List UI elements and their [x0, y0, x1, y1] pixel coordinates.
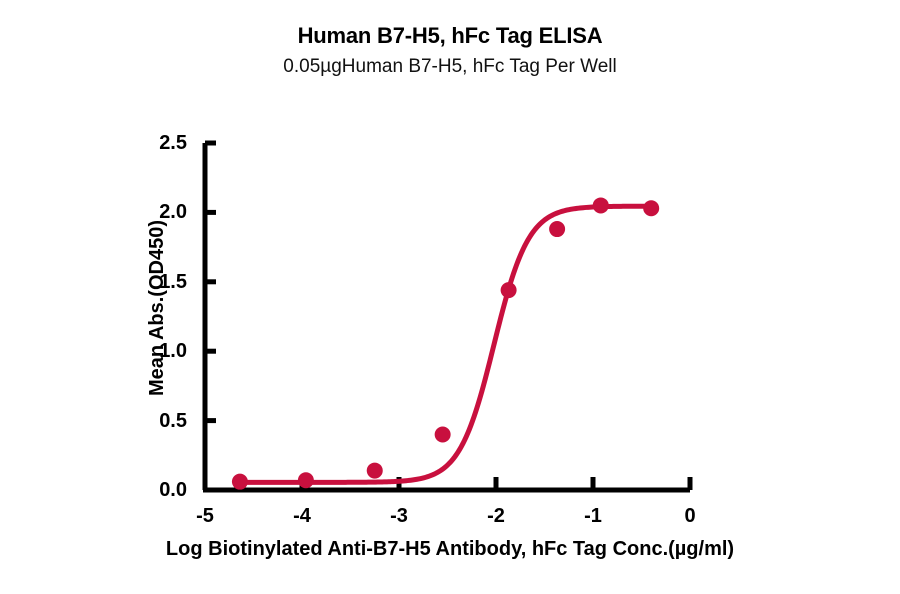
x-tick-label: -3: [374, 506, 424, 526]
x-tick-label: -2: [471, 506, 521, 526]
elisa-chart-figure: Human B7-H5, hFc Tag ELISA 0.05µgHuman B…: [0, 0, 900, 594]
x-tick-label: -4: [277, 506, 327, 526]
x-tick-label-layer: -5 -4 -3 -2 -1 0: [0, 0, 900, 594]
x-tick-label: -1: [568, 506, 618, 526]
x-tick-label: 0: [665, 506, 715, 526]
x-tick-label: -5: [180, 506, 230, 526]
